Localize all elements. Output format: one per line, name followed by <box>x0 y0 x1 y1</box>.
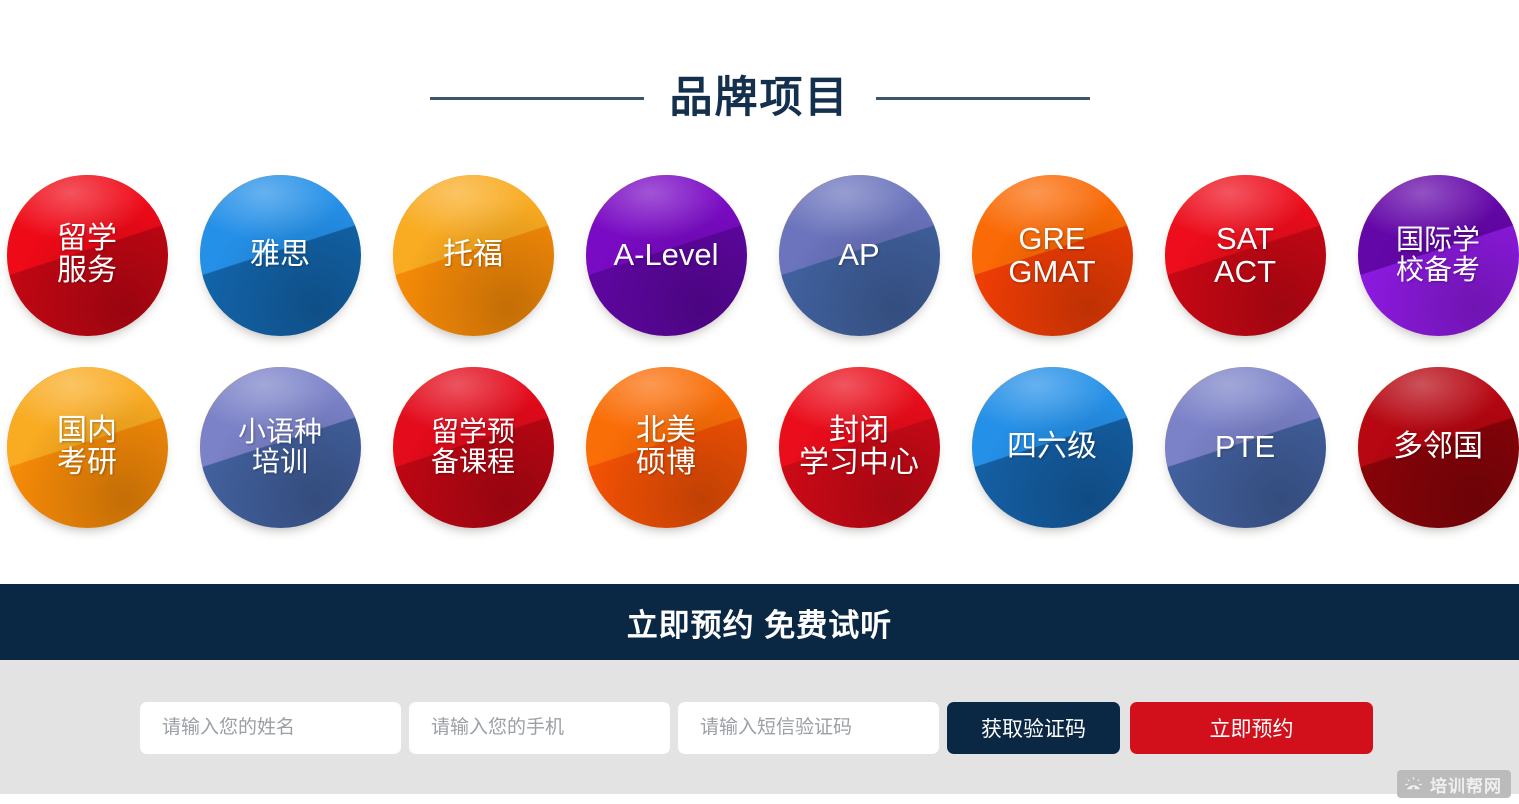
program-bubble[interactable]: 多邻国 <box>1358 367 1518 527</box>
program-bubble[interactable]: 雅思 <box>200 175 360 335</box>
get-verification-code-button[interactable]: 获取验证码 <box>947 702 1120 754</box>
booking-form-strip: 获取验证码 立即预约 <box>0 660 1519 794</box>
program-bubble[interactable]: AP <box>779 175 939 335</box>
program-row-1: 留学 服务雅思托福A-LevelAPGRE GMATSAT ACT国际学 校备考 <box>0 175 1519 335</box>
program-bubble[interactable]: 留学预 备课程 <box>393 367 553 527</box>
program-bubble-label: GRE GMAT <box>1006 222 1097 288</box>
program-bubble-label: 托福 <box>441 239 505 271</box>
program-bubble[interactable]: 封闭 学习中心 <box>779 367 939 527</box>
program-bubble[interactable]: 留学 服务 <box>7 175 167 335</box>
program-bubble[interactable]: 托福 <box>393 175 553 335</box>
program-bubble-label: PTE <box>1213 430 1277 463</box>
program-bubble-label: 多邻国 <box>1391 431 1485 463</box>
name-input[interactable] <box>140 702 401 754</box>
program-row-2: 国内 考研小语种 培训留学预 备课程北美 硕博封闭 学习中心四六级PTE多邻国 <box>0 367 1519 527</box>
program-bubble-label: 四六级 <box>1005 431 1099 463</box>
heading-rule-right <box>876 97 1090 100</box>
program-bubble[interactable]: 四六级 <box>972 367 1132 527</box>
program-bubble[interactable]: PTE <box>1165 367 1325 527</box>
page-title: 品牌项目 <box>670 77 850 120</box>
program-bubble-label: SAT ACT <box>1212 222 1278 288</box>
program-bubble-label: A-Level <box>611 238 720 271</box>
program-bubble-label: 国内 考研 <box>55 415 119 479</box>
program-bubble-label: 小语种 培训 <box>236 417 324 477</box>
submit-booking-button[interactable]: 立即预约 <box>1130 702 1373 754</box>
program-bubble-label: 北美 硕博 <box>634 415 698 479</box>
program-bubble-label: 留学预 备课程 <box>429 417 517 477</box>
program-bubble-label: 国际学 校备考 <box>1394 225 1482 285</box>
brand-programs-page: 品牌项目 留学 服务雅思托福A-LevelAPGRE GMATSAT ACT国际… <box>0 0 1519 804</box>
program-bubble[interactable]: 小语种 培训 <box>200 367 360 527</box>
program-bubble-label: 封闭 学习中心 <box>780 415 938 479</box>
sun-eye-icon <box>1404 775 1423 794</box>
program-bubble[interactable]: SAT ACT <box>1165 175 1325 335</box>
program-bubble-label: 雅思 <box>248 239 312 271</box>
watermark-label: 培训帮网 <box>1430 772 1502 797</box>
cta-banner-title: 立即预约 免费试听 <box>627 600 893 645</box>
site-watermark: 培训帮网 <box>1397 770 1511 798</box>
program-bubble-label: 留学 服务 <box>55 223 119 287</box>
program-bubble-label: AP <box>836 238 881 271</box>
sms-code-input[interactable] <box>678 702 939 754</box>
program-bubble[interactable]: 国际学 校备考 <box>1358 175 1518 335</box>
program-bubble[interactable]: 国内 考研 <box>7 367 167 527</box>
program-bubble[interactable]: GRE GMAT <box>972 175 1132 335</box>
cta-banner: 立即预约 免费试听 <box>0 584 1519 660</box>
program-grid: 留学 服务雅思托福A-LevelAPGRE GMATSAT ACT国际学 校备考… <box>0 175 1519 527</box>
phone-input[interactable] <box>409 702 670 754</box>
heading-rule-left <box>430 97 644 100</box>
program-bubble[interactable]: A-Level <box>586 175 746 335</box>
booking-form: 获取验证码 立即预约 <box>140 702 1373 754</box>
section-heading: 品牌项目 <box>0 62 1519 134</box>
program-bubble[interactable]: 北美 硕博 <box>586 367 746 527</box>
